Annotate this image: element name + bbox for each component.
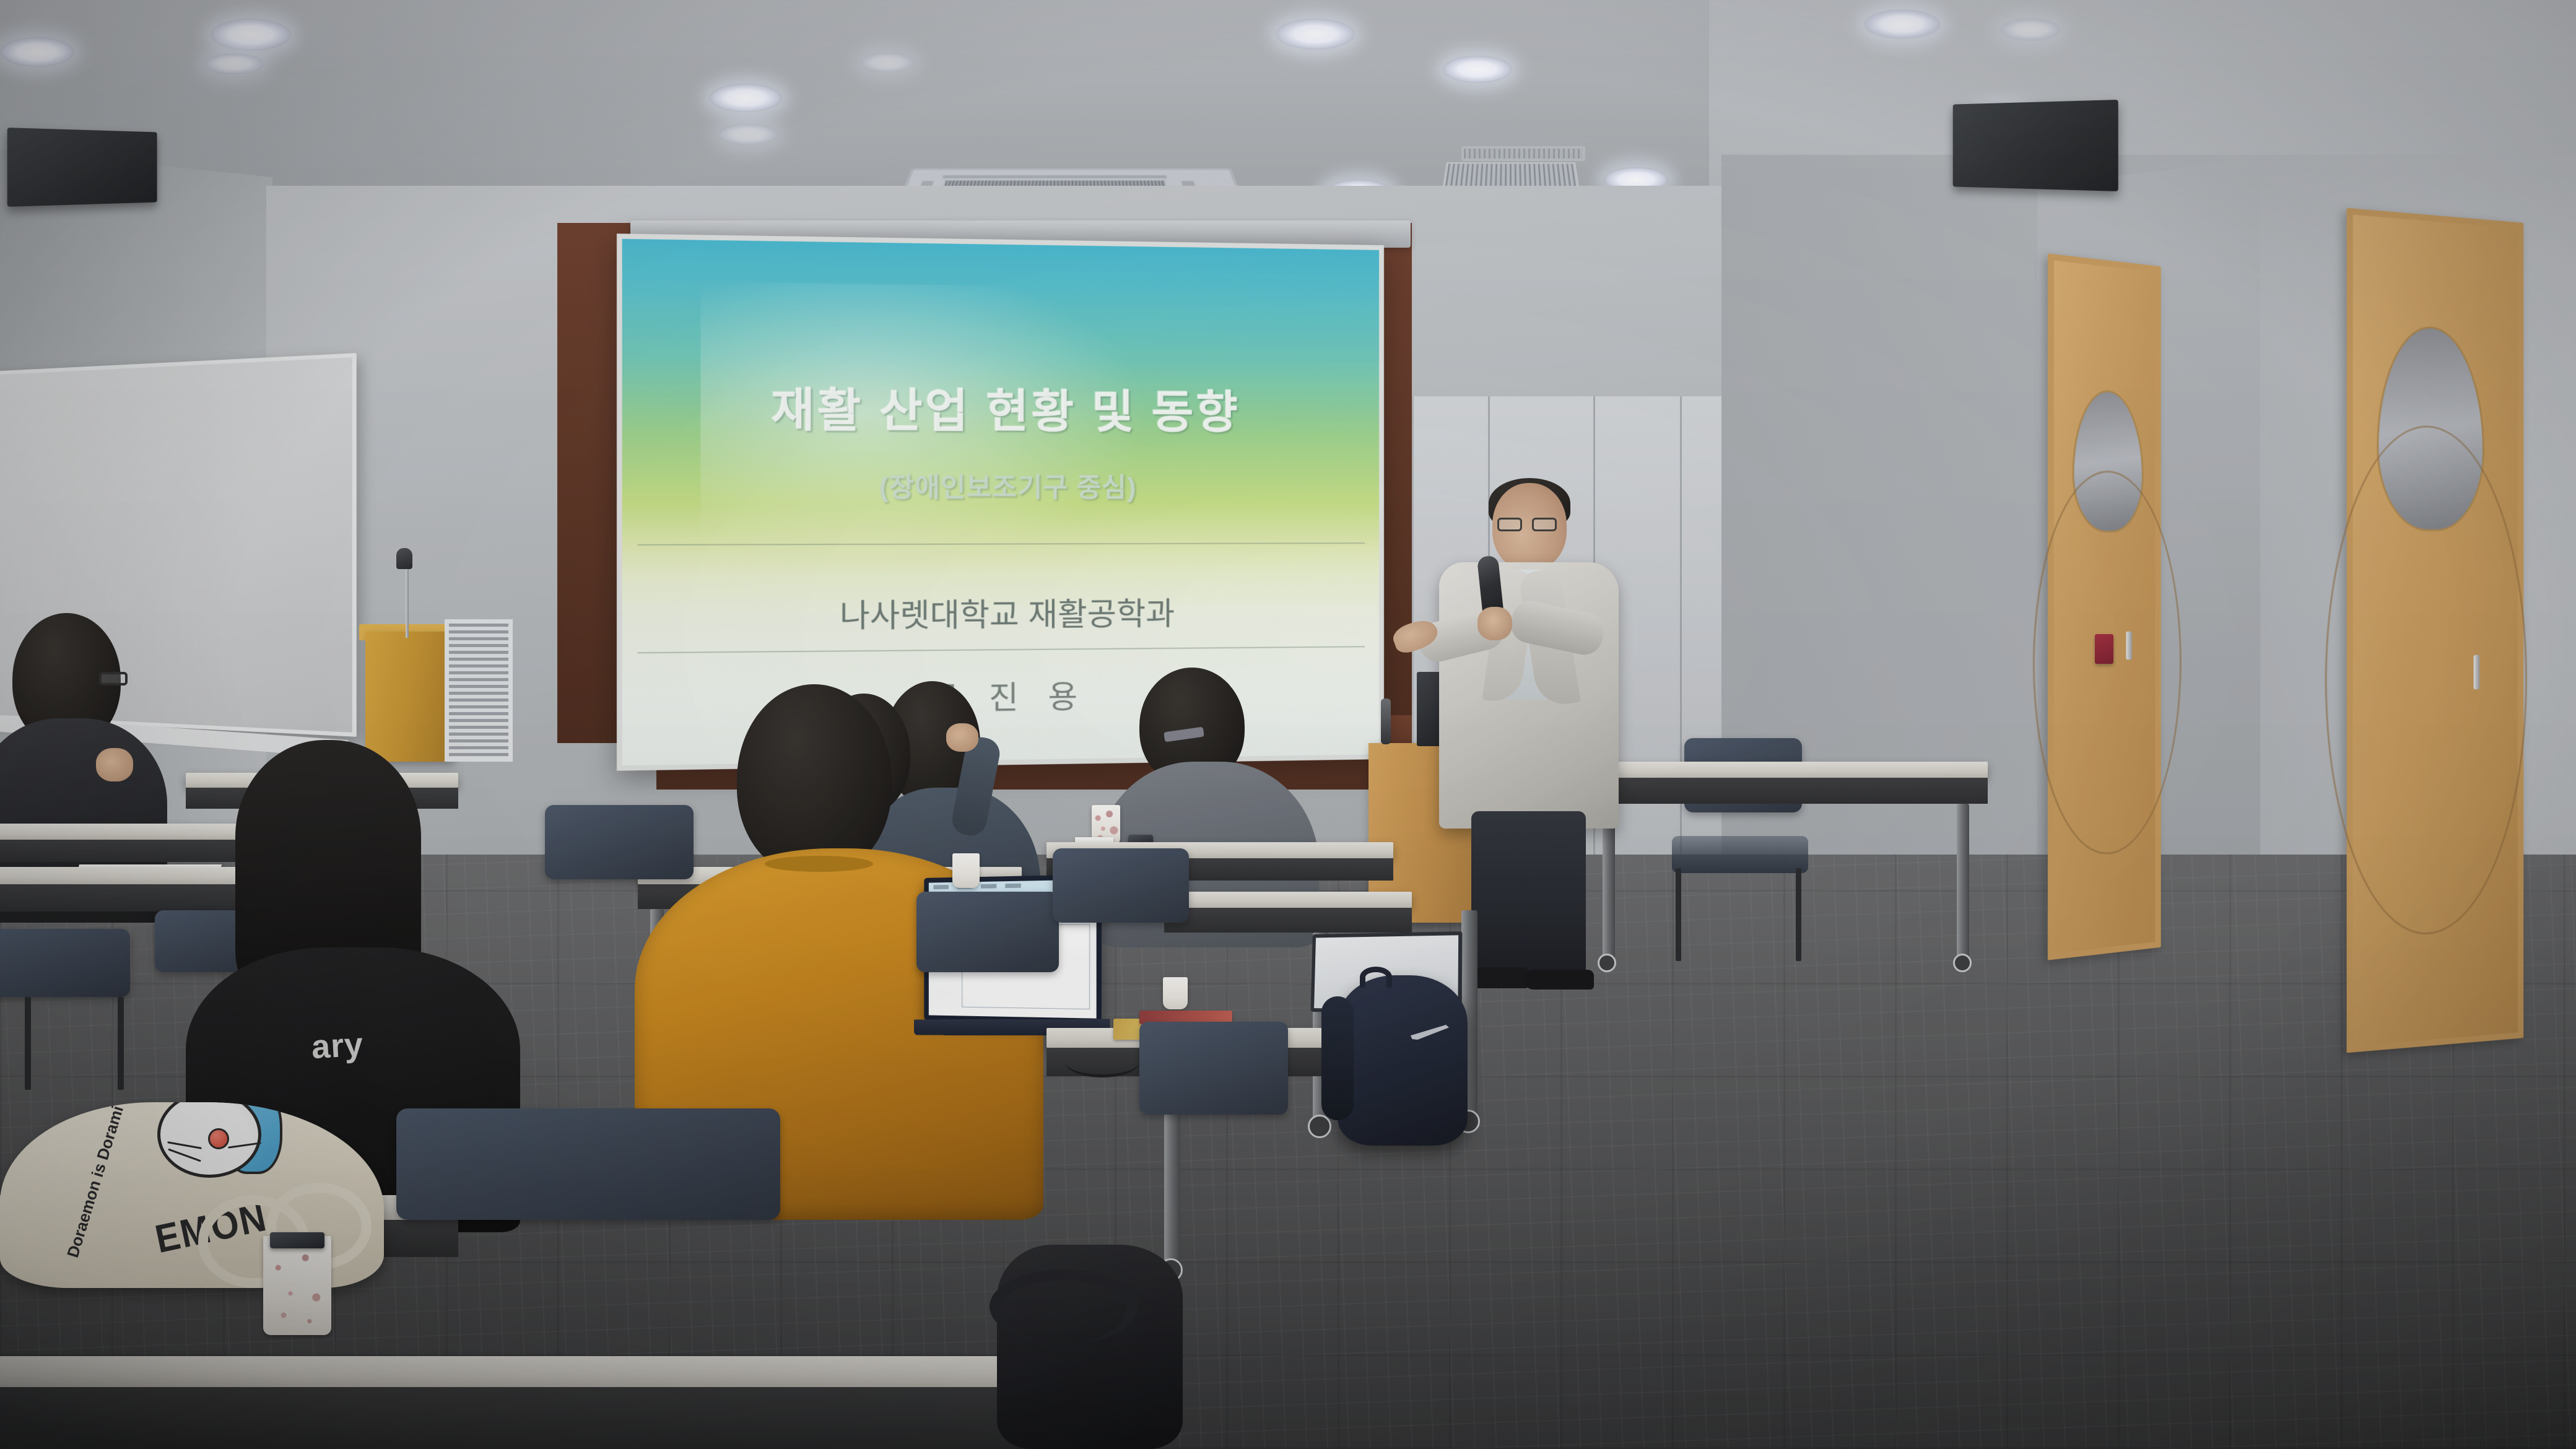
table-caster: [1953, 954, 1972, 972]
ceiling-light: [211, 19, 291, 51]
desk-top: [1164, 892, 1412, 908]
glasses-icon: [99, 672, 128, 685]
microphone-icon: [396, 548, 412, 569]
desk-top-foreground: [0, 1356, 1090, 1387]
ceiling-light: [861, 53, 914, 72]
student-collar: [765, 856, 873, 872]
door-handle[interactable]: [2126, 632, 2131, 660]
presentation-slide: 재활 산업 현황 및 동향 (장애인보조기구 중심) 나사렛대학교 재활공학과 …: [622, 239, 1379, 766]
slide-divider: [638, 646, 1364, 653]
desk-top: [0, 824, 272, 840]
desk-apron: [1164, 908, 1412, 933]
desk-apron: [0, 884, 241, 912]
chair-back[interactable]: [545, 805, 694, 879]
ceiling-light: [2000, 19, 2061, 41]
cup-pattern: [263, 1236, 331, 1335]
cable: [1065, 1046, 1139, 1077]
table-leg: [1957, 804, 1969, 959]
tote-tagline: Doraemon is Dorami's best friend: [63, 1102, 157, 1260]
lecture-room-photo: 재활 산업 현황 및 동향 (장애인보조기구 중심) 나사렛대학교 재활공학과 …: [0, 0, 2576, 1449]
back-table-apron: [1591, 778, 1988, 804]
chair-back[interactable]: [0, 929, 130, 997]
chair-back[interactable]: [1139, 1022, 1288, 1115]
ceiling-light: [1276, 19, 1355, 50]
paper-cup[interactable]: [263, 1236, 331, 1335]
paper-cup: [952, 853, 980, 888]
paper-cup: [1163, 977, 1188, 1009]
desk-microphone-icon: [1381, 698, 1391, 744]
chair-back[interactable]: [916, 892, 1059, 972]
ceiling-light: [1864, 9, 1941, 39]
glasses-lens-right: [1532, 518, 1557, 531]
slide-presenter-name: 공 진 용: [622, 669, 1379, 723]
ceiling-light: [718, 124, 778, 145]
projection-screen: 재활 산업 현황 및 동향 (장애인보조기구 중심) 나사렛대학교 재활공학과 …: [617, 233, 1384, 770]
glasses-icon: [1497, 518, 1559, 531]
ceiling-light: [0, 37, 74, 67]
nike-swoosh-icon: [1411, 1025, 1449, 1040]
door-near[interactable]: [2347, 208, 2524, 1053]
slide-subtitle: (장애인보조기구 중심): [622, 465, 1379, 505]
backpack-strap: [1321, 996, 1354, 1120]
ceiling-light: [204, 53, 264, 74]
table-caster: [1308, 1115, 1331, 1138]
door-far[interactable]: [2048, 253, 2161, 960]
glasses-lens-left: [1497, 518, 1522, 531]
doraemon-nose: [208, 1128, 229, 1149]
ceiling-light: [709, 84, 782, 112]
nike-backpack[interactable]: [1338, 975, 1468, 1146]
student-head: [737, 684, 892, 876]
door-arc-detail: [2033, 468, 2182, 861]
bag-strap: [990, 1269, 1138, 1344]
podium: [365, 632, 452, 762]
presenter-trousers: [1471, 811, 1586, 978]
door-arc-detail: [2325, 422, 2527, 941]
wall-speaker-right: [1953, 100, 2118, 191]
ac-louver: [941, 175, 1168, 179]
microphone-stand: [406, 557, 409, 638]
presenter-shoe-right: [1525, 970, 1594, 990]
slide-organization: 나사렛대학교 재활공학과: [622, 588, 1379, 638]
presenter: [1418, 483, 1622, 991]
chair-leg: [25, 997, 31, 1090]
backpack-loop: [1360, 967, 1392, 988]
fire-alarm-box[interactable]: [2095, 634, 2113, 664]
student-raised-hand: [946, 723, 978, 752]
chair-back[interactable]: [1053, 848, 1189, 923]
phone-in-cup: [270, 1232, 324, 1248]
slide-title: 재활 산업 현황 및 동향: [622, 370, 1379, 441]
chair-leg: [118, 997, 124, 1090]
presenter-hand-holding-mic: [1477, 607, 1512, 640]
ceiling-air-vent: [1461, 146, 1585, 161]
ceiling-light: [1443, 56, 1512, 83]
back-table-top: [1591, 762, 1988, 778]
desk-apron-foreground: [0, 1387, 1090, 1449]
door-handle[interactable]: [2474, 655, 2480, 690]
wall-speaker-left: [7, 128, 157, 207]
student-hand-on-chin: [96, 748, 133, 781]
wall-air-vent: [445, 619, 513, 762]
chair-back[interactable]: [396, 1108, 780, 1220]
desk-apron: [0, 840, 272, 862]
chair-leg: [1676, 868, 1681, 961]
chair-leg: [1796, 868, 1801, 961]
blue-chair-seat[interactable]: [1672, 836, 1808, 873]
doraemon-icon: [149, 1102, 272, 1189]
desk-top: [0, 867, 241, 884]
